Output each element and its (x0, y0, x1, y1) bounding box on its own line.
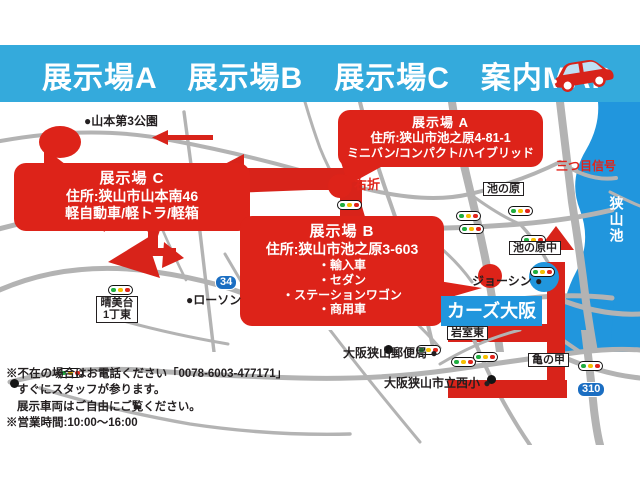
box-label-ikenohara-naka-line1: 池の原中 (513, 242, 557, 254)
note-line-3: 展示車両はご自由にご覧ください。 (6, 399, 306, 415)
traffic-light (473, 352, 498, 362)
callout-a-vehicles: ミニバン/コンパクト/ハイブリッド (342, 146, 539, 161)
traffic-light (459, 224, 484, 234)
note-line-1: ※不在の場合はお電話ください「0078-6003-477171」 (6, 366, 306, 382)
traffic-light (337, 200, 362, 210)
traffic-light (578, 361, 603, 371)
box-label-iwamuro-line1: 岩室東 (451, 327, 484, 339)
callout-c-title: 展示場 C (18, 170, 246, 188)
callout-b-item: ・セダン (244, 273, 440, 288)
callout-tenjijo-b[interactable]: 展示場 B 住所:狭山市池之原3-603 ・輸入車 ・セダン ・ステーションワゴ… (240, 216, 444, 326)
traffic-light (508, 206, 533, 216)
callout-b-address: 住所:狭山市池之原3-603 (244, 241, 440, 258)
callout-c-address: 住所:狭山市山本南46 (18, 188, 246, 205)
callout-c-vehicles: 軽自動車/軽トラ/軽箱 (18, 205, 246, 222)
box-label-harumidai-line2: 1丁東 (100, 309, 134, 321)
traffic-light (456, 211, 481, 221)
label-sayamaike-char: 狭山池 (608, 196, 625, 244)
box-label-harumidai-line1: 晴美台 (100, 297, 134, 309)
box-label-harumidai: 晴美台 1丁東 (96, 296, 138, 323)
callout-b-item: ・商用車 (244, 302, 440, 317)
route-shield-34: 34 (215, 275, 237, 290)
poi-label-yamamoto-3-park: ●山本第3公園 (84, 112, 158, 129)
callout-tenjijo-c[interactable]: 展示場 C 住所:狭山市山本南46 軽自動車/軽トラ/軽箱 (14, 163, 250, 231)
poi-label-nishi-elementary: 大阪狭山市立西小 ● (384, 374, 491, 391)
box-label-ikenohara: 池の原 (483, 182, 524, 196)
route-shield-310: 310 (577, 382, 605, 397)
callout-b-item: ・ステーションワゴン (244, 288, 440, 303)
note-line-4: ※営業時間:10:00～16:00 (6, 415, 306, 431)
box-label-ikenohara-naka: 池の原中 (509, 241, 561, 255)
label-cars-osaka[interactable]: カーズ大阪 (441, 296, 542, 326)
callout-a-title: 展示場 A (342, 115, 539, 131)
marker-tenjijo-c (39, 126, 81, 158)
poi-label-lawson: ●ローソン (186, 291, 241, 308)
traffic-light (108, 285, 133, 295)
map-page: 展示場A 展示場B 展示場C 案内MAP (0, 0, 640, 480)
poi-label-joshin: ジョーシン ● (472, 272, 542, 289)
callout-a-address: 住所:狭山市池之原4-81-1 (342, 131, 539, 146)
callout-b-item: ・輸入車 (244, 258, 440, 273)
box-label-iwamuro-higashi: 岩室東 (447, 326, 488, 340)
poi-label-post-office: 大阪狭山郵便局 ● (343, 344, 438, 361)
red-label-turn-right: 右折 (354, 174, 380, 193)
red-label-third-signal: 三つ目信号 (556, 157, 616, 174)
note-line-2: すぐにスタッフが参ります。 (6, 382, 306, 398)
red-car-icon (548, 53, 618, 95)
box-label-kamenoko-line1: 亀の甲 (532, 354, 565, 366)
label-sayamaike: 狭山池 (608, 196, 630, 244)
page-title: 展示場A 展示場B 展示場C 案内MAP (42, 53, 613, 97)
box-label-ikenohara-line1: 池の原 (487, 183, 520, 195)
footer-notes: ※不在の場合はお電話ください「0078-6003-477171」 すぐにスタッフ… (6, 366, 306, 431)
marker-tenjijo-a (328, 174, 352, 198)
box-label-kamenoko: 亀の甲 (528, 353, 569, 367)
page-header: 展示場A 展示場B 展示場C 案内MAP (0, 45, 640, 102)
callout-tenjijo-a[interactable]: 展示場 A 住所:狭山市池之原4-81-1 ミニバン/コンパクト/ハイブリッド (338, 110, 543, 167)
callout-b-title: 展示場 B (244, 223, 440, 241)
